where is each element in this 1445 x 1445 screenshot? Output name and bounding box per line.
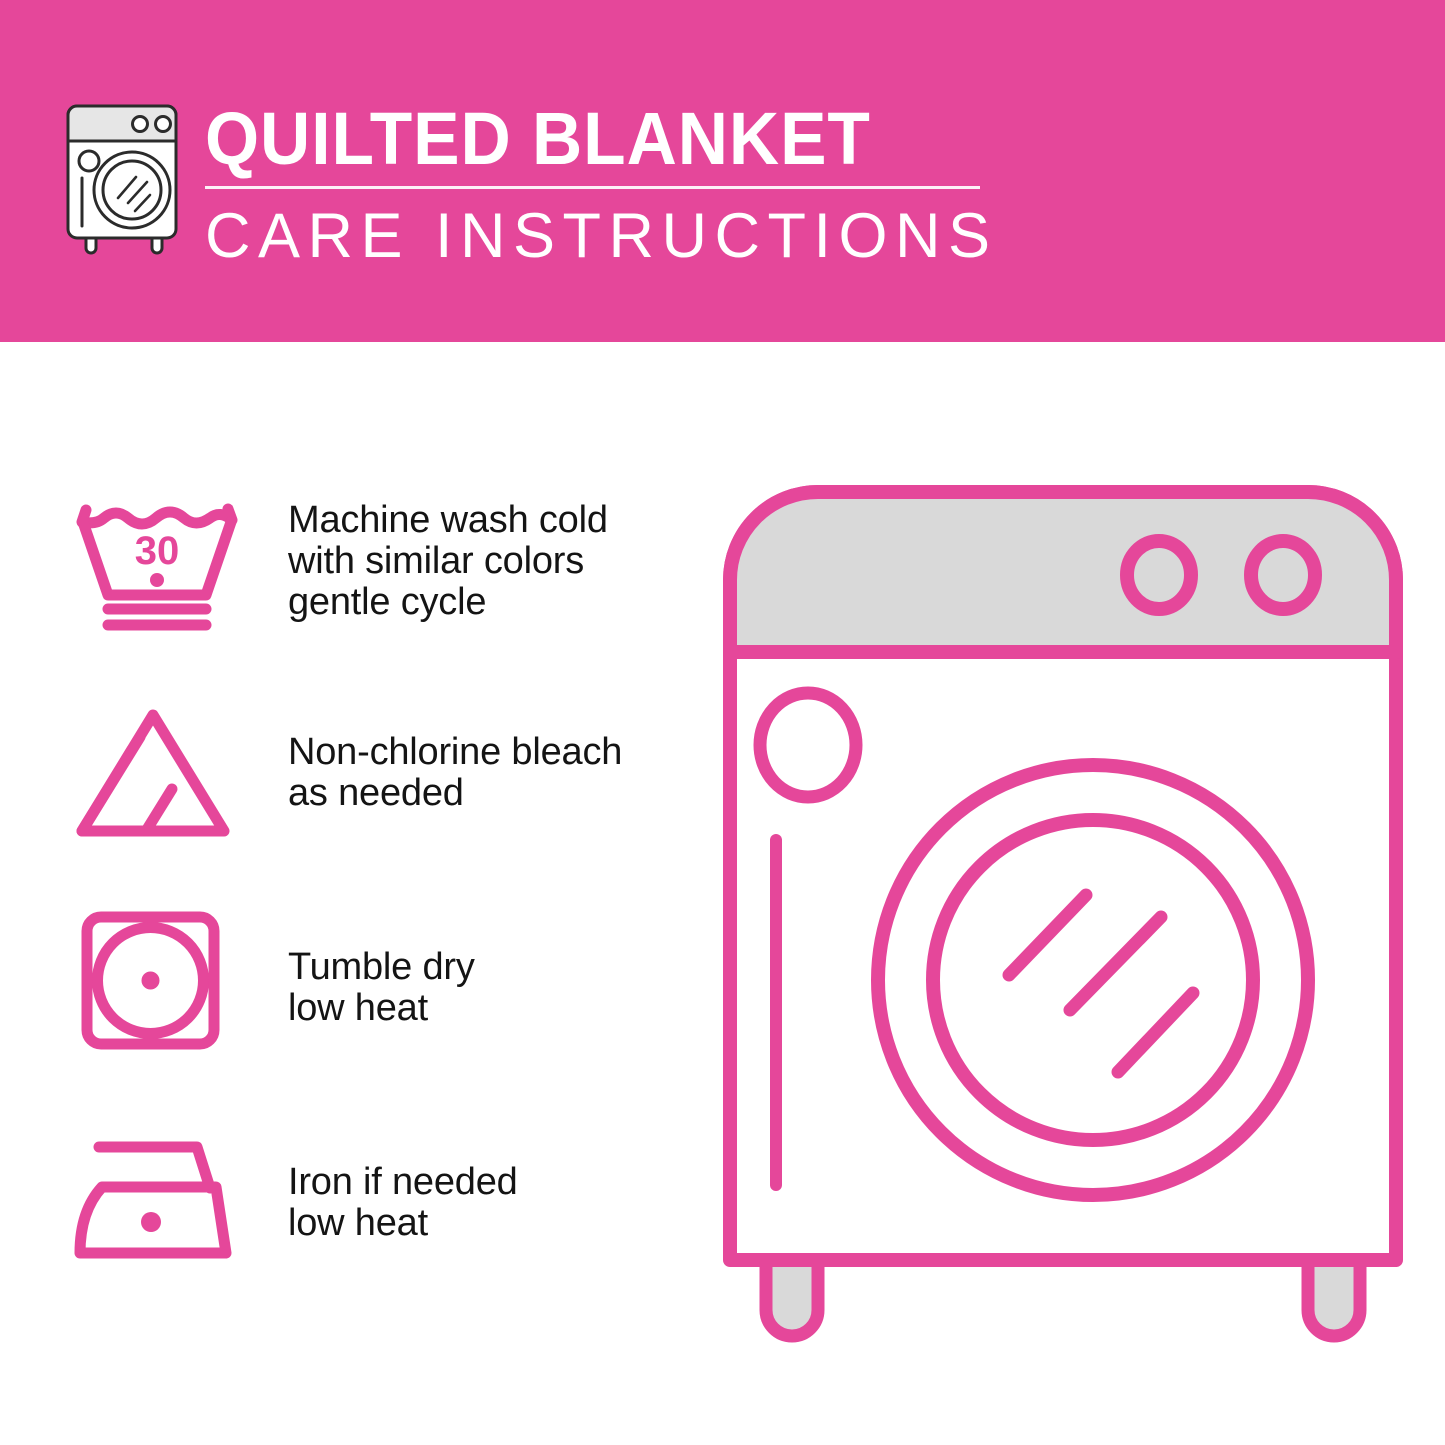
list-item-label: Tumble dry low heat [288, 947, 475, 1029]
list-item: 30 Machine wash cold with similar colors… [0, 470, 700, 685]
non-chlorine-bleach-triangle-icon [68, 703, 238, 843]
tumble-dry-low-icon [78, 908, 223, 1053]
list-item-label: Machine wash cold with similar colors ge… [288, 500, 608, 623]
header-text-block: QUILTED BLANKET CARE INSTRUCTIONS [205, 100, 995, 269]
washing-machine-icon [60, 98, 190, 253]
list-item-label: Iron if needed low heat [288, 1162, 518, 1244]
page-subtitle: CARE INSTRUCTIONS [205, 203, 995, 269]
list-item: Iron if needed low heat [0, 1115, 700, 1330]
wash-tub-30-gentle-icon: 30 [72, 492, 247, 640]
list-item-label: Non-chlorine bleach as needed [288, 732, 622, 814]
list-item: Tumble dry low heat [0, 900, 700, 1115]
knob-right [1251, 541, 1315, 609]
care-symbol-list: 30 Machine wash cold with similar colors… [0, 470, 700, 1330]
wash-temperature-value: 30 [135, 529, 180, 573]
detergent-port [760, 693, 856, 797]
care-instructions-infographic: QUILTED BLANKET CARE INSTRUCTIONS 3 [0, 0, 1445, 1445]
header-band: QUILTED BLANKET CARE INSTRUCTIONS [0, 0, 1445, 342]
front-load-washing-machine-illustration [718, 480, 1408, 1370]
page-title: QUILTED BLANKET [205, 100, 948, 178]
list-item: Non-chlorine bleach as needed [0, 685, 700, 900]
knob-left [1127, 541, 1191, 609]
title-divider [205, 186, 980, 189]
iron-low-heat-icon [66, 1133, 246, 1268]
